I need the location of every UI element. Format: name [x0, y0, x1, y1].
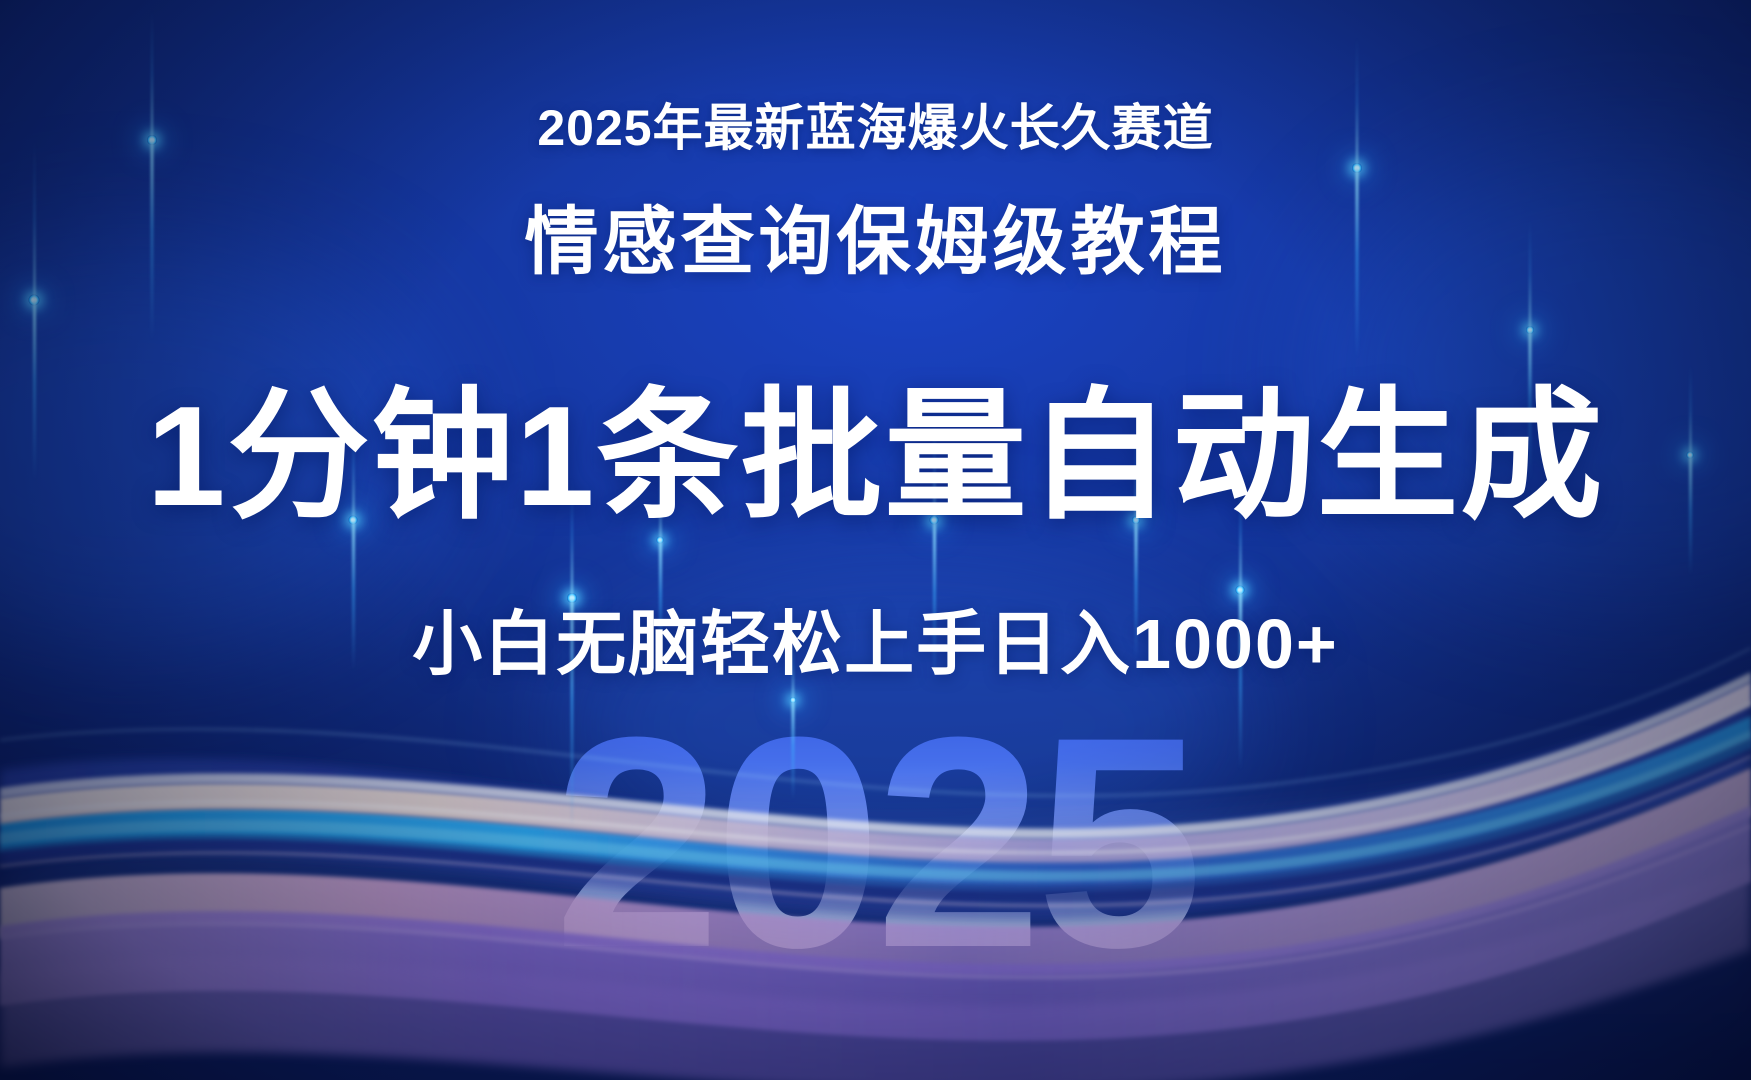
tagline-line: 小白无脑轻松上手日入1000+: [0, 588, 1751, 689]
light-particle-5-icon: [657, 537, 664, 544]
ambient-glow-left: [0, 240, 440, 660]
light-particle-10-icon: [1526, 326, 1534, 334]
main-headline: 1分钟1条批量自动生成: [0, 340, 1751, 546]
light-particle-4-icon: [567, 593, 577, 603]
light-particle-6-icon: [930, 516, 939, 525]
year-watermark: 2025: [554, 700, 1197, 985]
light-particle-7-icon: [1132, 516, 1140, 524]
subtitle-line: 情感查询保姆级教程: [0, 182, 1751, 289]
light-particle-11-icon: [1687, 452, 1694, 459]
light-particle-3-icon: [349, 516, 358, 525]
promo-poster: 2025: [0, 0, 1751, 1080]
kicker-line: 2025年最新蓝海爆火长久赛道: [0, 88, 1751, 160]
light-particle-9-icon: [1352, 163, 1362, 173]
ambient-glow-center: [560, 560, 1260, 890]
vignette-overlay: [0, 0, 1751, 1080]
wave-ribbons: [0, 620, 1751, 1080]
light-particle-1-icon: [29, 295, 40, 306]
light-particle-12-icon: [790, 697, 796, 703]
light-particle-8-icon: [1236, 586, 1245, 595]
light-particle-2-icon: [147, 135, 157, 145]
headline-text-stack: 2025年最新蓝海爆火长久赛道 情感查询保姆级教程 1分钟1条批量自动生成 小白…: [0, 0, 1751, 1080]
